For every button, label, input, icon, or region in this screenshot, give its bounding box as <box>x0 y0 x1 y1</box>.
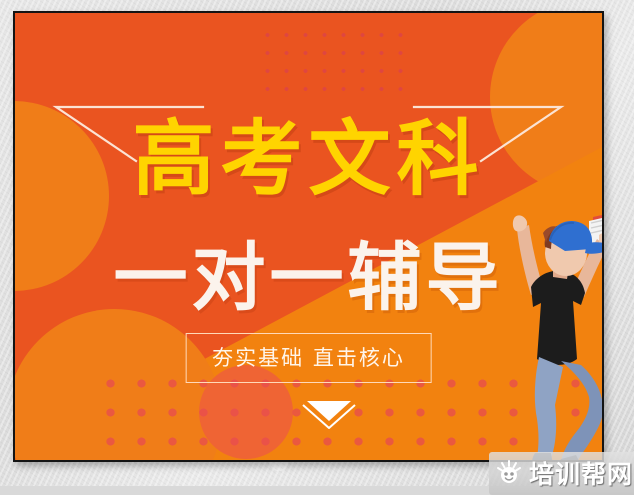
page-title: 高考文科 <box>15 119 602 201</box>
watermark: 培训帮网 <box>489 452 634 495</box>
down-arrow-icon <box>301 399 357 429</box>
jumping-student-illustration <box>481 209 602 460</box>
smiling-sun-icon <box>496 460 522 486</box>
poster-canvas: 高考文科 一对一辅导 夯实基础 直击核心 <box>15 13 602 460</box>
tagline-badge: 夯实基础 直击核心 <box>185 333 432 383</box>
poster-frame: 高考文科 一对一辅导 夯实基础 直击核心 <box>13 11 604 462</box>
